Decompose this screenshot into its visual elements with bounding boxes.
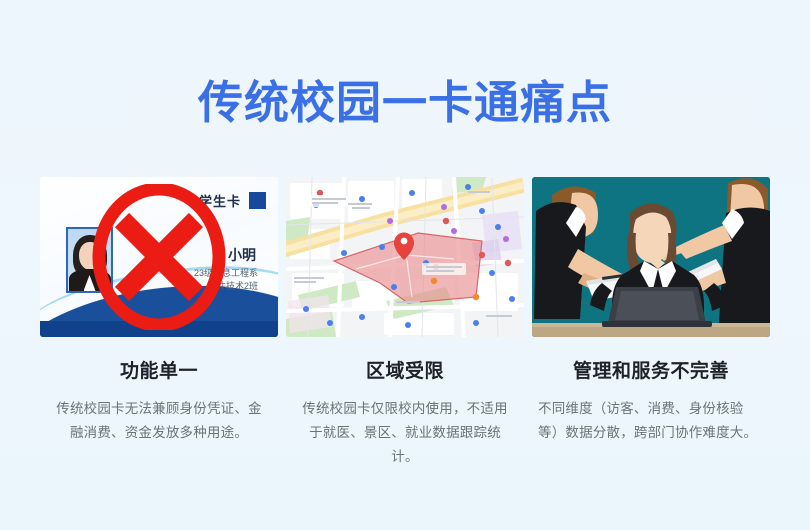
school-logo-icon xyxy=(249,192,266,209)
campus-map-graphic xyxy=(286,177,524,337)
card-thumbnail-office xyxy=(532,177,770,337)
pain-point-card-single-function: 学生卡 小明 23级信息工程系 软件技术2班 xyxy=(40,177,278,469)
card-heading: 区域受限 xyxy=(366,356,444,383)
card-heading: 功能单一 xyxy=(120,356,198,383)
pain-point-card-row: 学生卡 小明 23级信息工程系 软件技术2班 xyxy=(0,177,810,469)
card-description: 传统校园卡无法兼顾身份凭证、金融消费、资金发放多种用途。 xyxy=(50,397,268,445)
student-name: 小明 xyxy=(228,245,256,265)
pain-point-card-region-limited: 区域受限 传统校园卡仅限校内使用，不适用于就医、景区、就业数据跟踪统计。 xyxy=(286,177,524,469)
overwhelmed-worker-illustration xyxy=(532,177,770,337)
pain-point-card-management-service: 管理和服务不完善 不同维度（访客、消费、身份核验等）数据分散，跨部门协作难度大。 xyxy=(532,177,770,469)
slide-background: 传统校园一卡通痛点 xyxy=(0,0,810,530)
laptop-icon xyxy=(602,287,712,327)
page-title: 传统校园一卡通痛点 xyxy=(0,78,810,128)
card-thumbnail-map xyxy=(286,177,524,337)
card-description: 不同维度（访客、消费、身份核验等）数据分散，跨部门协作难度大。 xyxy=(538,397,764,445)
prohibition-cross-icon xyxy=(86,184,232,330)
card-description: 传统校园卡仅限校内使用，不适用于就医、景区、就业数据跟踪统计。 xyxy=(296,397,514,469)
card-thumbnail-student-id: 学生卡 小明 23级信息工程系 软件技术2班 xyxy=(40,177,278,337)
card-heading: 管理和服务不完善 xyxy=(573,356,729,383)
